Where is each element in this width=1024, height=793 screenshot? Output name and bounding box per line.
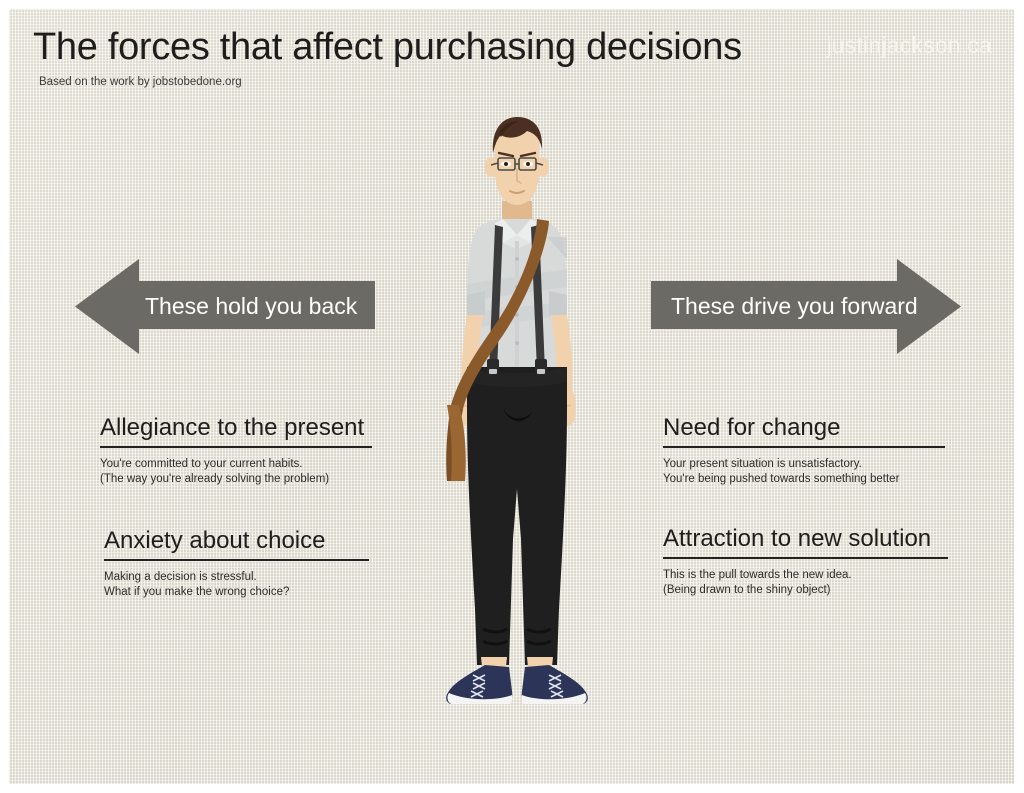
linen-background: The forces that affect purchasing decisi… [9, 9, 1014, 784]
force-body-line1: Your present situation is unsatisfactory… [663, 457, 945, 472]
man-figure-svg [407, 109, 627, 704]
force-heading: Anxiety about choice [104, 526, 369, 556]
force-block-attraction: Attraction to new solution This is the p… [663, 524, 948, 598]
arrow-hold-you-back: These hold you back [75, 259, 375, 354]
force-divider [104, 559, 369, 561]
shirt-button [515, 257, 519, 261]
trousers [467, 367, 567, 665]
page-title: The forces that affect purchasing decisi… [33, 25, 742, 69]
page-subtitle: Based on the work by jobstobedone.org [39, 75, 242, 89]
force-heading: Attraction to new solution [663, 524, 948, 554]
force-heading: Need for change [663, 413, 945, 443]
pupil-left [504, 162, 508, 166]
arrow-right-label: These drive you forward [671, 259, 931, 354]
pupil-right [526, 162, 530, 166]
force-divider [663, 557, 948, 559]
suspender-clip-right-metal [537, 369, 545, 374]
suspender-clip-left-metal [489, 369, 497, 374]
shirt-button [515, 341, 519, 345]
force-divider [663, 446, 945, 448]
force-body-line1: This is the pull towards the new idea. [663, 568, 948, 583]
force-body-line2: You're being pushed towards something be… [663, 472, 945, 487]
force-body-line2: (Being drawn to the shiny object) [663, 583, 948, 598]
force-divider [100, 446, 372, 448]
poster-canvas: The forces that affect purchasing decisi… [0, 0, 1024, 793]
force-body-line1: Making a decision is stressful. [104, 570, 369, 585]
force-body-line1: You're committed to your current habits. [100, 457, 372, 472]
sleeve-cuff-left [467, 291, 485, 319]
brand-watermark: justinjackson.ca [826, 31, 992, 59]
standing-man-illustration [407, 109, 627, 704]
force-body-line2: What if you make the wrong choice? [104, 585, 369, 600]
force-block-anxiety: Anxiety about choice Making a decision i… [104, 526, 369, 600]
arrow-drive-you-forward: These drive you forward [651, 259, 961, 354]
sleeve-cuff-right [549, 291, 567, 319]
force-body-line2: (The way you're already solving the prob… [100, 472, 372, 487]
arrow-left-label: These hold you back [145, 259, 385, 354]
force-block-need-for-change: Need for change Your present situation i… [663, 413, 945, 487]
force-heading: Allegiance to the present [100, 413, 372, 443]
force-block-allegiance: Allegiance to the present You're committ… [100, 413, 372, 487]
